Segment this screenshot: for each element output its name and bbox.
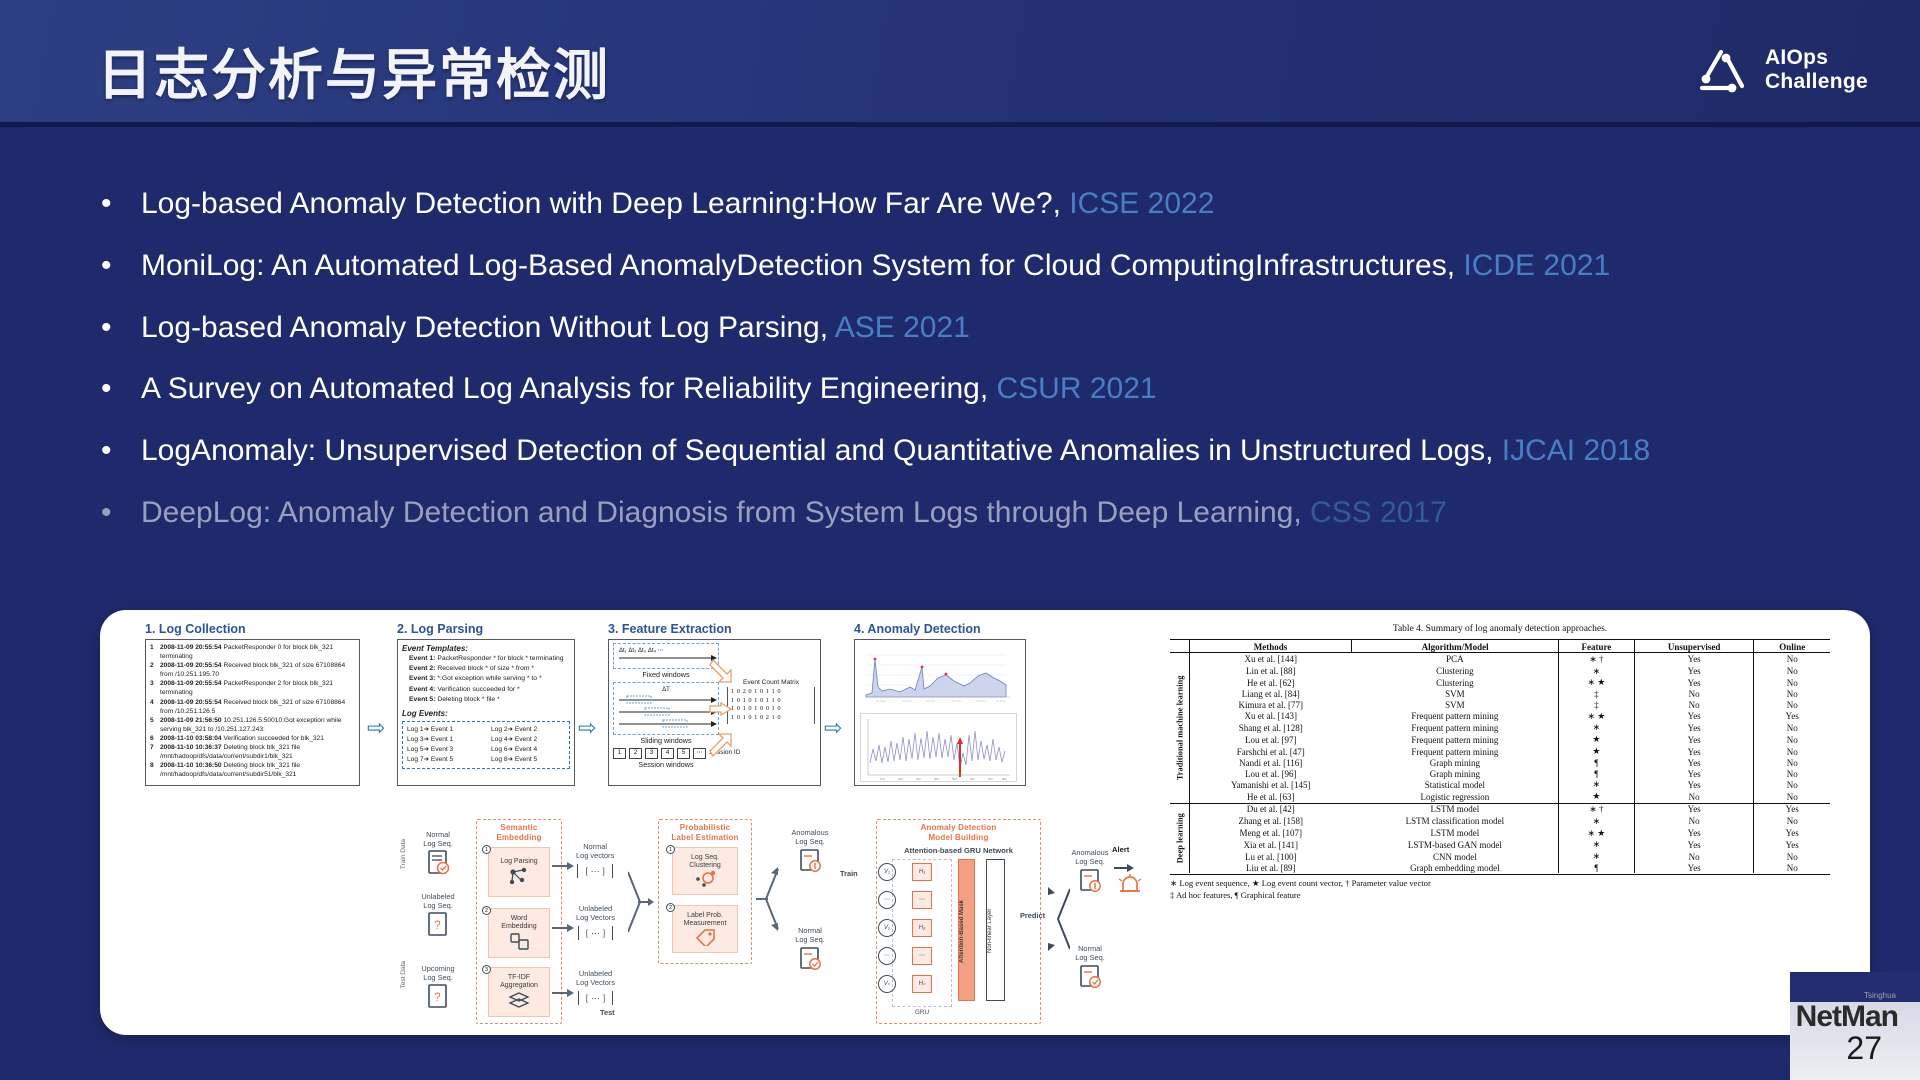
- cell-unsupervised: Yes: [1634, 768, 1754, 779]
- cell-feature: ∗ †: [1558, 803, 1634, 815]
- cell-unsupervised: Yes: [1634, 653, 1754, 665]
- cell-online: No: [1754, 665, 1830, 677]
- vector-brackets: [ ⋯ ]: [578, 991, 614, 1005]
- arrow-right-icon: [552, 923, 574, 933]
- log-entry: 22008-11-09 20:55:54 Received block blk_…: [150, 661, 355, 679]
- cell-online: Yes: [1754, 827, 1830, 839]
- log-event-mapping-box: Log 1➜ Event 1 Log 2➜ Event 2 Log 3➜ Eve…: [402, 721, 570, 769]
- session-cell: 4: [661, 748, 674, 759]
- session-windows-caption: Session windows: [613, 760, 719, 770]
- log-timestamp: 2008-11-09 20:55:54: [160, 699, 222, 706]
- bell-alert-icon: [1116, 873, 1144, 899]
- logo-line-1: AIOps: [1765, 46, 1828, 69]
- reference-venue: CSS 2017: [1310, 496, 1447, 529]
- svg-text:500: 500: [952, 777, 957, 781]
- reference-title: DeepLog: Anomaly Detection and Diagnosis…: [141, 496, 1310, 529]
- log-event-map: Log 7➜ Event 5: [407, 755, 481, 765]
- log-events-label: Log Events:: [402, 708, 570, 719]
- event-key: Event 2:: [409, 665, 435, 672]
- cell-online: No: [1754, 689, 1830, 700]
- output-label-l1: Normal: [1078, 944, 1102, 953]
- sliding-windows-box: ΔT: [613, 682, 719, 735]
- list-item: • Log-based Anomaly Detection Without Lo…: [97, 309, 1842, 347]
- step-label: Label Prob. Measurement: [684, 912, 727, 929]
- bullet-marker: •: [97, 185, 141, 223]
- cell-feature: ∗ ★: [1558, 710, 1634, 722]
- reference-title: A Survey on Automated Log Analysis for R…: [141, 372, 997, 405]
- event-value: Received block * of size * from *: [437, 665, 534, 672]
- log-index: 6: [150, 734, 160, 743]
- group-col-header: [1170, 640, 1189, 653]
- log-event-map: Log 3➜ Event 1: [407, 735, 481, 745]
- doc-alert-icon: [1077, 867, 1103, 895]
- cell-algorithm: LSTM-based GAN model: [1352, 839, 1558, 851]
- doc-question-icon: ?: [425, 983, 451, 1013]
- input-label-l2: Log Seq.: [423, 973, 453, 982]
- cell-method: Farshchi et al. [47]: [1189, 746, 1352, 758]
- cell-unsupervised: Yes: [1634, 827, 1754, 839]
- arrow-right-icon: [552, 861, 574, 871]
- cell-algorithm: LSTM model: [1352, 803, 1558, 815]
- cell-unsupervised: Yes: [1634, 722, 1754, 734]
- cell-algorithm: SVM: [1352, 689, 1558, 700]
- gru-h-node: H₁: [912, 863, 932, 881]
- step-label-prob-measurement: Label Prob. Measurement: [672, 905, 738, 953]
- cell-method: Kimura et al. [77]: [1189, 700, 1352, 711]
- log-index: 1: [150, 643, 160, 661]
- event-value: *:Got exception while serving * to *: [437, 675, 541, 682]
- reference-venue: ICDE 2021: [1463, 249, 1610, 282]
- output-label-l1: Normal: [798, 926, 822, 935]
- cell-method: He et al. [63]: [1189, 791, 1352, 803]
- log-event-map: Log 8➜ Event 5: [491, 755, 565, 765]
- doc-alert-icon: [797, 847, 823, 875]
- cell-unsupervised: No: [1634, 851, 1754, 863]
- cell-feature: ★: [1558, 734, 1634, 746]
- step-label: Log Parsing: [500, 858, 537, 866]
- gru-h-node: ⋯: [912, 947, 932, 965]
- stage-1-title: 1. Log Collection: [145, 622, 360, 636]
- cell-online: No: [1754, 734, 1830, 746]
- vector-label-l2: Log Vectors: [576, 978, 615, 987]
- cell-online: Yes: [1754, 839, 1830, 851]
- cell-online: No: [1754, 815, 1830, 827]
- sliding-tick-label: ΔT: [619, 686, 713, 694]
- reference-title: Log-based Anomaly Detection with Deep Le…: [141, 187, 1069, 220]
- doc-check-icon: [425, 849, 451, 879]
- slide: 日志分析与异常检测 AIOps Challenge: [0, 0, 1920, 1080]
- matrix-row: 1 0 2 0 1 0 1 1 0: [731, 688, 811, 697]
- log-analysis-pipeline-figure: 1. Log Collection 12008-11-09 20:55:54 P…: [145, 622, 1145, 802]
- table-row: Farshchi et al. [47] Frequent pattern mi…: [1170, 746, 1830, 758]
- session-cell: 3: [645, 748, 658, 759]
- cell-algorithm: Graph embedding model: [1352, 862, 1558, 873]
- list-item: • MoniLog: An Automated Log-Based Anomal…: [97, 247, 1842, 285]
- reference-text: LogAnomaly: Unsupervised Detection of Se…: [141, 432, 1842, 470]
- footnote-line-2: ‡ Ad hoc features, ¶ Graphical feature: [1170, 890, 1830, 902]
- matrix-body: 1 0 2 0 1 0 1 1 0 1 0 1 0 1 0 1 1 0 1 0 …: [727, 687, 815, 724]
- cell-unsupervised: No: [1634, 815, 1754, 827]
- deep-learning-framework-figure: Train Data Test Data NormalLog Seq. Unla…: [400, 815, 1145, 1030]
- area-timeseries-chart: 01 Sep15 Sep01 Oct 15 Oct01 Nov15 Nov: [860, 645, 1018, 707]
- gru-v-node: V₁: [878, 863, 896, 881]
- test-data-label: Test Data: [400, 961, 407, 988]
- svg-text:700: 700: [988, 777, 993, 781]
- svg-text:15 Nov: 15 Nov: [996, 699, 1006, 703]
- table-row: Nandi et al. [116] Graph mining ¶ Yes No: [1170, 757, 1830, 768]
- table-row: Lou et al. [96] Graph mining ¶ Yes No: [1170, 768, 1830, 779]
- table-row: Yamanishi et al. [145] Statistical model…: [1170, 779, 1830, 791]
- cell-algorithm: Clustering: [1352, 677, 1558, 689]
- attention-based-mask-block: Attention-Based Mask: [958, 859, 975, 1001]
- svg-text:15 Oct: 15 Oct: [952, 699, 961, 703]
- step-number-3: 3: [482, 965, 491, 974]
- probabilistic-label-estimation-title: Probabilistic Label Estimation: [658, 823, 752, 843]
- svg-text:300: 300: [916, 777, 921, 781]
- squares-icon: [507, 931, 531, 951]
- log-entry: 52008-11-09 21:56:50 10.251.126.5:50010:…: [150, 716, 355, 734]
- bullet-marker: •: [97, 370, 141, 408]
- log-entry: 32008-11-09 20:55:54 PacketResponder 2 f…: [150, 679, 355, 697]
- sliding-axis-3-icon: [619, 719, 717, 728]
- input-upcoming-log-seq: UpcomingLog Seq. ?: [412, 965, 464, 1018]
- reference-venue: CSUR 2021: [997, 372, 1157, 405]
- table-row: He et al. [63] Logistic regression ★ No …: [1170, 791, 1830, 803]
- mid-output-normal: NormalLog Seq.: [784, 927, 836, 978]
- table-row: Shang et al. [128] Frequent pattern mini…: [1170, 722, 1830, 734]
- matrix-row: 1 0 1 0 1 0 0 1 0: [731, 705, 811, 714]
- log-text: 2008-11-10 03:58:04 Verification succeed…: [160, 734, 355, 743]
- cell-unsupervised: Yes: [1634, 862, 1754, 873]
- step-number-2: 2: [482, 906, 491, 915]
- svg-text:800: 800: [1002, 777, 1007, 781]
- cell-online: Yes: [1754, 803, 1830, 815]
- cell-feature: ∗: [1558, 722, 1634, 734]
- table-caption: Table 4. Summary of log anomaly detectio…: [1170, 624, 1830, 634]
- session-cell: 2: [629, 748, 642, 759]
- event-value: PacketResponder * for block * terminatin…: [437, 655, 563, 662]
- output-label-l1: Anomalous: [792, 828, 829, 837]
- train-data-label: Train Data: [400, 839, 407, 869]
- log-timestamp: 2008-11-09 20:55:54: [160, 644, 222, 651]
- input-label-l2: Log Seq.: [423, 839, 453, 848]
- log-index: 4: [150, 698, 160, 716]
- approaches-table-block: Table 4. Summary of log anomaly detectio…: [1170, 624, 1830, 901]
- log-timestamp: 2008-11-09 20:55:54: [160, 680, 222, 687]
- cell-algorithm: Clustering: [1352, 665, 1558, 677]
- event-template: Event 5: Deleting block * file *: [402, 695, 570, 705]
- cell-unsupervised: Yes: [1634, 710, 1754, 722]
- log-text: 2008-11-10 10:36:37 Deleting block blk_3…: [160, 743, 355, 761]
- test-flow-label: Test: [600, 1008, 615, 1017]
- cell-method: Meng et al. [107]: [1189, 827, 1352, 839]
- page-title: 日志分析与异常检测: [97, 30, 610, 110]
- cell-algorithm: Frequent pattern mining: [1352, 746, 1558, 758]
- output-normal: NormalLog Seq.: [1064, 945, 1116, 996]
- event-count-matrix-label: Event Count Matrix: [727, 678, 815, 687]
- bullet-marker: •: [97, 432, 141, 470]
- sliding-axis-1-icon: [619, 695, 717, 704]
- cell-feature: ‡: [1558, 700, 1634, 711]
- log-entry: 42008-11-09 20:55:54 Received block blk_…: [150, 698, 355, 716]
- vector-label-l1: Normal: [583, 842, 607, 851]
- cell-method: Xu et al. [143]: [1189, 710, 1352, 722]
- log-timestamp: 2008-11-10 10:36:50: [160, 762, 222, 769]
- cell-unsupervised: No: [1634, 689, 1754, 700]
- netman-logo: NetMan Tsinghua: [1796, 1000, 1898, 1034]
- cell-method: Shang et al. [128]: [1189, 722, 1352, 734]
- col-header-methods: Methods: [1189, 640, 1352, 653]
- step-number-2: 2: [666, 903, 675, 912]
- cell-feature: ∗: [1558, 665, 1634, 677]
- cell-online: No: [1754, 722, 1830, 734]
- cell-method: Liu et al. [89]: [1189, 862, 1352, 873]
- cell-unsupervised: Yes: [1634, 779, 1754, 791]
- event-key: Event 5:: [409, 696, 435, 703]
- cell-algorithm: PCA: [1352, 653, 1558, 665]
- svg-text:01 Nov: 01 Nov: [976, 699, 986, 703]
- col-header-algorithm: Algorithm/Model: [1352, 640, 1558, 653]
- netman-sup: Tsinghua: [1864, 991, 1896, 1000]
- log-text: 2008-11-09 21:56:50 10.251.126.5:50010:G…: [160, 716, 355, 734]
- arrow-right-icon: [552, 988, 574, 998]
- cell-unsupervised: No: [1634, 700, 1754, 711]
- list-item: • LogAnomaly: Unsupervised Detection of …: [97, 432, 1842, 470]
- figures-card: 1. Log Collection 12008-11-09 20:55:54 P…: [100, 610, 1870, 1035]
- cell-algorithm: Frequent pattern mining: [1352, 710, 1558, 722]
- gru-network-subtitle: Attention-based GRU Network: [876, 846, 1041, 855]
- anomaly-detection-model-title: Anomaly Detection Model Building: [876, 823, 1041, 843]
- session-cell: 1: [613, 748, 626, 759]
- col-header-unsupervised: Unsupervised: [1634, 640, 1754, 653]
- cell-feature: ¶: [1558, 757, 1634, 768]
- sliding-axis-2-icon: [619, 707, 717, 716]
- list-item: • Log-based Anomaly Detection with Deep …: [97, 185, 1842, 223]
- train-flow-label: Train: [840, 869, 858, 878]
- table-row: Traditional machine learning Xu et al. […: [1170, 653, 1830, 665]
- event-count-matrix: Event Count Matrix 1 0 2 0 1 0 1 1 0 1 0…: [727, 678, 815, 724]
- header-underline: [0, 122, 1920, 127]
- step-label: Word Embedding: [501, 915, 536, 932]
- orange-arrow-up-icon: [709, 732, 735, 758]
- svg-text:600: 600: [970, 777, 975, 781]
- vector-brackets: [ ⋯ ]: [577, 864, 613, 878]
- stage-1-log-box: 12008-11-09 20:55:54 PacketResponder 0 f…: [145, 639, 360, 786]
- predict-flow-label: Predict: [1020, 911, 1045, 920]
- event-template: Event 4: Verification succeeded for *: [402, 685, 570, 695]
- event-value: Deleting block * file *: [437, 696, 499, 703]
- tag-icon: [693, 928, 717, 946]
- log-event-map: Log 4➜ Event 2: [491, 735, 565, 745]
- log-index: 3: [150, 679, 160, 697]
- cell-online: No: [1754, 791, 1830, 803]
- reference-text: DeepLog: Anomaly Detection and Diagnosis…: [141, 494, 1842, 532]
- list-item: • A Survey on Automated Log Analysis for…: [97, 370, 1842, 408]
- session-cell: 5: [677, 748, 690, 759]
- cell-online: No: [1754, 677, 1830, 689]
- list-item: • DeepLog: Anomaly Detection and Diagnos…: [97, 494, 1842, 532]
- logo-line-2: Challenge: [1765, 70, 1868, 93]
- log-timestamp: 2008-11-10 10:36:37: [160, 744, 222, 751]
- reference-venue: IJCAI 2018: [1502, 434, 1650, 467]
- vector-label-l1: Unlabeled: [579, 969, 612, 978]
- log-index: 2: [150, 661, 160, 679]
- orange-arrow-down-icon: [709, 658, 735, 684]
- svg-text:?: ?: [434, 990, 441, 1004]
- group-label-deep-learning: Deep learning: [1170, 803, 1189, 873]
- gru-v-node: V₂: [878, 919, 896, 937]
- input-unlabeled-log-seq: UnlabeledLog Seq. ?: [412, 893, 464, 946]
- cell-method: Nandi et al. [116]: [1189, 757, 1352, 768]
- cell-unsupervised: Yes: [1634, 734, 1754, 746]
- output-label-l2: Log Seq.: [795, 935, 825, 944]
- netman-brand: NetMan: [1796, 1000, 1898, 1033]
- reference-venue: ICSE 2022: [1069, 187, 1214, 220]
- cell-algorithm: Graph mining: [1352, 757, 1558, 768]
- output-anomalous: AnomalousLog Seq.: [1064, 849, 1116, 900]
- output-label-l2: Log Seq.: [1075, 953, 1105, 962]
- fixed-windows-box: Δt₁ Δt₂ Δt₃ Δt₄ ⋯: [613, 643, 719, 669]
- event-template: Event 3: *:Got exception while serving *…: [402, 674, 570, 684]
- reference-text: Log-based Anomaly Detection Without Log …: [141, 309, 1842, 347]
- cell-method: Xu et al. [144]: [1189, 653, 1352, 665]
- pipeline-arrow-3-icon: ⇨: [824, 717, 842, 739]
- bullet-marker: •: [97, 247, 141, 285]
- table-footnote: ∗ Log event sequence, ★ Log event count …: [1170, 874, 1830, 901]
- cell-method: Lou et al. [96]: [1189, 768, 1352, 779]
- cell-feature: ★: [1558, 791, 1634, 803]
- doc-question-icon: ?: [425, 911, 451, 941]
- cell-algorithm: Graph mining: [1352, 768, 1558, 779]
- graph-nodes-icon: [507, 866, 531, 886]
- log-timestamp: 2008-11-09 20:55:54: [160, 662, 222, 669]
- spiky-line-chart-with-anomaly: 100200300 400500600 700800: [860, 713, 1018, 783]
- log-entry: 12008-11-09 20:55:54 PacketResponder 0 f…: [150, 643, 355, 661]
- cell-unsupervised: No: [1634, 791, 1754, 803]
- input-label-l1: Upcoming: [421, 964, 454, 973]
- log-index: 7: [150, 743, 160, 761]
- cell-unsupervised: Yes: [1634, 839, 1754, 851]
- group-label-traditional: Traditional machine learning: [1170, 653, 1189, 803]
- event-templates-label: Event Templates:: [402, 643, 570, 654]
- log-text: 2008-11-10 10:36:50 Deleting block blk_3…: [160, 761, 355, 779]
- step-log-parsing: Log Parsing: [488, 847, 550, 897]
- fixed-window-ticks: Δt₁ Δt₂ Δt₃ Δt₄ ⋯: [619, 647, 713, 655]
- cell-feature: ∗ ★: [1558, 827, 1634, 839]
- step-label: TF-IDF Aggregation: [500, 974, 538, 991]
- cell-online: No: [1754, 862, 1830, 873]
- cell-method: Lu et al. [100]: [1189, 851, 1352, 863]
- mid-output-anomalous: AnomalousLog Seq.: [784, 829, 836, 880]
- log-entry: 82008-11-10 10:36:50 Deleting block blk_…: [150, 761, 355, 779]
- page-number: 27: [1846, 1030, 1882, 1067]
- log-event-map: Log 5➜ Event 3: [407, 745, 481, 755]
- reference-venue: ASE 2021: [835, 311, 970, 344]
- cell-feature: ∗: [1558, 815, 1634, 827]
- logo-text: AIOps Challenge: [1765, 46, 1868, 93]
- approaches-table: Methods Algorithm/Model Feature Unsuperv…: [1170, 639, 1830, 873]
- table-row: Xia et al. [141] LSTM-based GAN model ∗ …: [1170, 839, 1830, 851]
- step-word-embedding: Word Embedding: [488, 908, 550, 958]
- merge-arrow-icon: [628, 870, 654, 936]
- stage-2-parsing-box: Event Templates: Event 1: PacketResponde…: [397, 639, 575, 786]
- table-row: Deep learning Du et al. [42] LSTM model …: [1170, 803, 1830, 815]
- input-label-l2: Log Seq.: [423, 901, 453, 910]
- gru-h-node: H₂: [912, 919, 932, 937]
- log-index: 5: [150, 716, 160, 734]
- gru-h-node: Hₙ: [912, 975, 932, 993]
- cell-method: Xia et al. [141]: [1189, 839, 1352, 851]
- table-row: He et al. [62] Clustering ∗ ★ Yes No: [1170, 677, 1830, 689]
- stage-4-title: 4. Anomaly Detection: [854, 622, 1026, 636]
- sliding-windows-caption: Sliding windows: [613, 736, 719, 746]
- log-text: 2008-11-09 20:55:54 PacketResponder 0 fo…: [160, 643, 355, 661]
- table-row: Meng et al. [107] LSTM model ∗ ★ Yes Yes: [1170, 827, 1830, 839]
- cell-method: Zhang et al. [158]: [1189, 815, 1352, 827]
- cell-unsupervised: Yes: [1634, 665, 1754, 677]
- event-key: Event 1:: [409, 655, 435, 662]
- event-key: Event 3:: [409, 675, 435, 682]
- step-tfidf-aggregation: TF-IDF Aggregation: [488, 967, 550, 1017]
- cell-feature: ∗: [1558, 839, 1634, 851]
- log-text: 2008-11-09 20:55:54 Received block blk_3…: [160, 661, 355, 679]
- gru-v-node: ⋯: [878, 947, 896, 965]
- reference-title: Log-based Anomaly Detection Without Log …: [141, 311, 835, 344]
- cell-algorithm: SVM: [1352, 700, 1558, 711]
- col-header-online: Online: [1754, 640, 1830, 653]
- session-cell: ⋯: [693, 748, 706, 759]
- table-row: Zhang et al. [158] LSTM classification m…: [1170, 815, 1830, 827]
- matrix-row: 1 0 1 0 1 0 1 1 0: [731, 697, 811, 706]
- event-template: Event 2: Received block * of size * from…: [402, 664, 570, 674]
- reference-list: • Log-based Anomaly Detection with Deep …: [97, 185, 1842, 556]
- matrix-row: 1 0 1 0 1 0 2 1 0: [731, 714, 811, 723]
- stage-4-detection-box: 01 Sep15 Sep01 Oct 15 Oct01 Nov15 Nov 10…: [854, 639, 1026, 786]
- event-template: Event 1: PacketResponder * for block * t…: [402, 654, 570, 664]
- svg-text:200: 200: [898, 777, 903, 781]
- output-label-l1: Anomalous: [1072, 848, 1109, 857]
- log-message: Verification succeeded for blk_321: [223, 735, 323, 742]
- event-value: Verification succeeded for *: [437, 686, 519, 693]
- cell-feature: ¶: [1558, 862, 1634, 873]
- log-timestamp: 2008-11-10 03:58:04: [160, 735, 222, 742]
- svg-text:100: 100: [880, 777, 885, 781]
- doc-check-icon: [1077, 963, 1103, 991]
- table-row: Xu et al. [143] Frequent pattern mining …: [1170, 710, 1830, 722]
- log-event-map: Log 1➜ Event 1: [407, 725, 481, 735]
- bullet-marker: •: [97, 309, 141, 347]
- cell-algorithm: Frequent pattern mining: [1352, 734, 1558, 746]
- output-label-l2: Log Seq.: [795, 837, 825, 846]
- input-label-l1: Normal: [426, 830, 450, 839]
- step-number-1: 1: [482, 845, 491, 854]
- orange-arrow-right-icon: [709, 702, 733, 716]
- aiops-challenge-logo: AIOps Challenge: [1696, 46, 1868, 94]
- cell-feature: ‡: [1558, 689, 1634, 700]
- input-label-l1: Unlabeled: [421, 892, 454, 901]
- cell-algorithm: Logistic regression: [1352, 791, 1558, 803]
- cell-unsupervised: Yes: [1634, 677, 1754, 689]
- output-label-l2: Log Seq.: [1075, 857, 1105, 866]
- split-arrow-icon: [756, 867, 780, 931]
- reference-text: MoniLog: An Automated Log-Based AnomalyD…: [141, 247, 1842, 285]
- log-text: 2008-11-09 20:55:54 Received block blk_3…: [160, 698, 355, 716]
- doc-check-icon: [797, 945, 823, 973]
- cell-feature: ∗: [1558, 851, 1634, 863]
- gru-v-node: ⋯: [878, 891, 896, 909]
- fixed-windows-caption: Fixed windows: [613, 670, 719, 680]
- cell-online: No: [1754, 746, 1830, 758]
